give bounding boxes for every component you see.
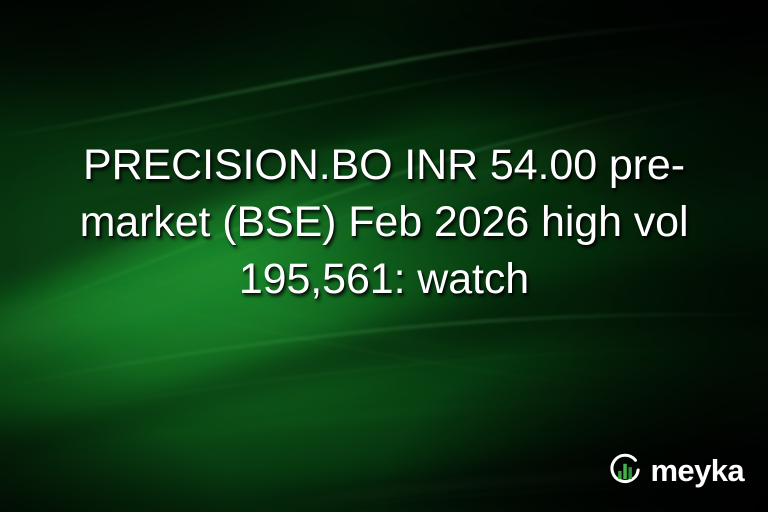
meyka-logo[interactable]: meyka	[607, 452, 744, 488]
meyka-wordmark: meyka	[650, 455, 744, 486]
meyka-circle-bars-icon	[607, 452, 643, 488]
headline-text: PRECISION.BO INR 54.00 pre-market (BSE) …	[0, 137, 768, 308]
promo-card: PRECISION.BO INR 54.00 pre-market (BSE) …	[0, 0, 768, 512]
